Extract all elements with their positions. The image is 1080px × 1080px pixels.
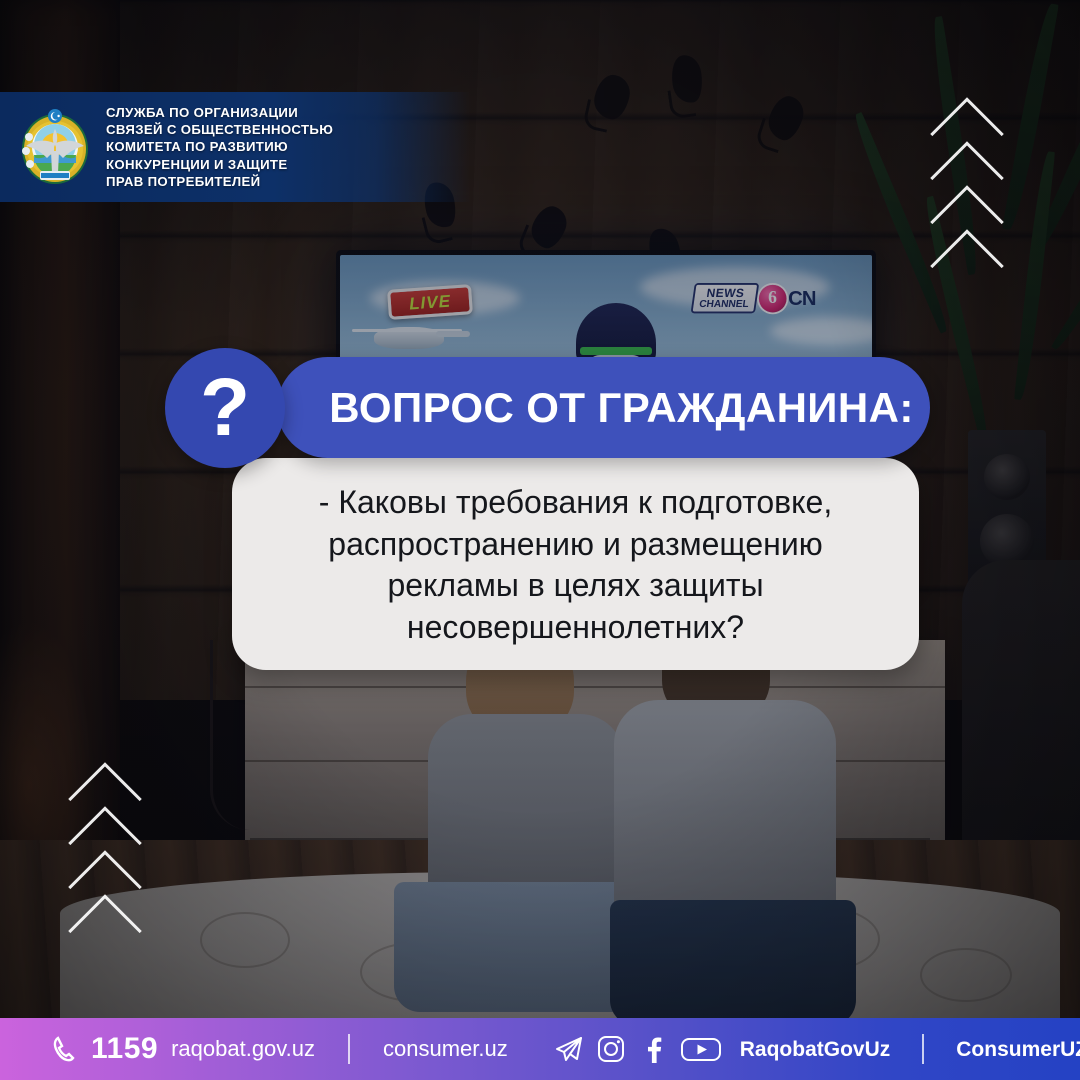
instagram-icon[interactable] <box>596 1034 626 1064</box>
tv-live-badge: LIVE <box>387 284 473 320</box>
tv-channel-name: NEWS CHANNEL <box>691 283 759 314</box>
question-header: ВОПРОС ОТ ГРАЖДАНИНА: ? <box>165 348 935 468</box>
footer-contact-group: 1159 raqobat.gov.uz consumer.uz <box>0 1034 508 1064</box>
phone-icon <box>52 1035 78 1063</box>
chevron-up-icon <box>68 897 142 955</box>
organization-name: СЛУЖБА ПО ОРГАНИЗАЦИИ СВЯЗЕЙ С ОБЩЕСТВЕН… <box>106 104 333 190</box>
hotline-number[interactable]: 1159 <box>91 1034 158 1064</box>
youtube-icon[interactable] <box>680 1034 722 1064</box>
footer-divider <box>348 1034 350 1064</box>
footer-social-group: RaqobatGovUz ConsumerUZ <box>554 1034 1080 1064</box>
website-primary[interactable]: raqobat.gov.uz <box>171 1038 315 1060</box>
social-handle-primary[interactable]: RaqobatGovUz <box>740 1039 891 1060</box>
question-mark-badge: ? <box>165 348 285 468</box>
chevron-up-icon <box>930 232 1004 290</box>
tv-channel-number: 6 <box>759 284 787 312</box>
question-card: - Каковы требования к подготовке, распро… <box>165 348 935 468</box>
question-body-panel: - Каковы требования к подготовке, распро… <box>232 458 919 670</box>
website-secondary[interactable]: consumer.uz <box>383 1038 508 1060</box>
chevron-decor-bottom-left <box>68 765 142 941</box>
contact-footer: 1159 raqobat.gov.uz consumer.uz <box>0 1018 1080 1080</box>
organization-banner: СЛУЖБА ПО ОРГАНИЗАЦИИ СВЯЗЕЙ С ОБЩЕСТВЕН… <box>0 92 470 202</box>
question-title: ВОПРОС ОТ ГРАЖДАНИНА: <box>277 357 930 458</box>
telegram-icon[interactable] <box>554 1034 584 1064</box>
child-right <box>600 620 860 1020</box>
tv-helicopter <box>374 327 444 349</box>
tv-network-logo: CN <box>789 288 816 308</box>
uzbekistan-state-emblem-icon <box>18 107 92 187</box>
footer-divider-2 <box>922 1034 924 1064</box>
question-text: - Каковы требования к подготовке, распро… <box>260 482 891 648</box>
social-handle-secondary[interactable]: ConsumerUZ <box>956 1039 1080 1060</box>
poster-canvas: LIVE NEWS CHANNEL 6 CN <box>0 0 1080 1080</box>
tv-channel-logo: NEWS CHANNEL 6 CN <box>693 283 816 314</box>
facebook-icon[interactable] <box>638 1034 668 1064</box>
tv-channel-subtitle: CHANNEL <box>699 298 750 309</box>
chevron-decor-top-right <box>930 100 1004 276</box>
